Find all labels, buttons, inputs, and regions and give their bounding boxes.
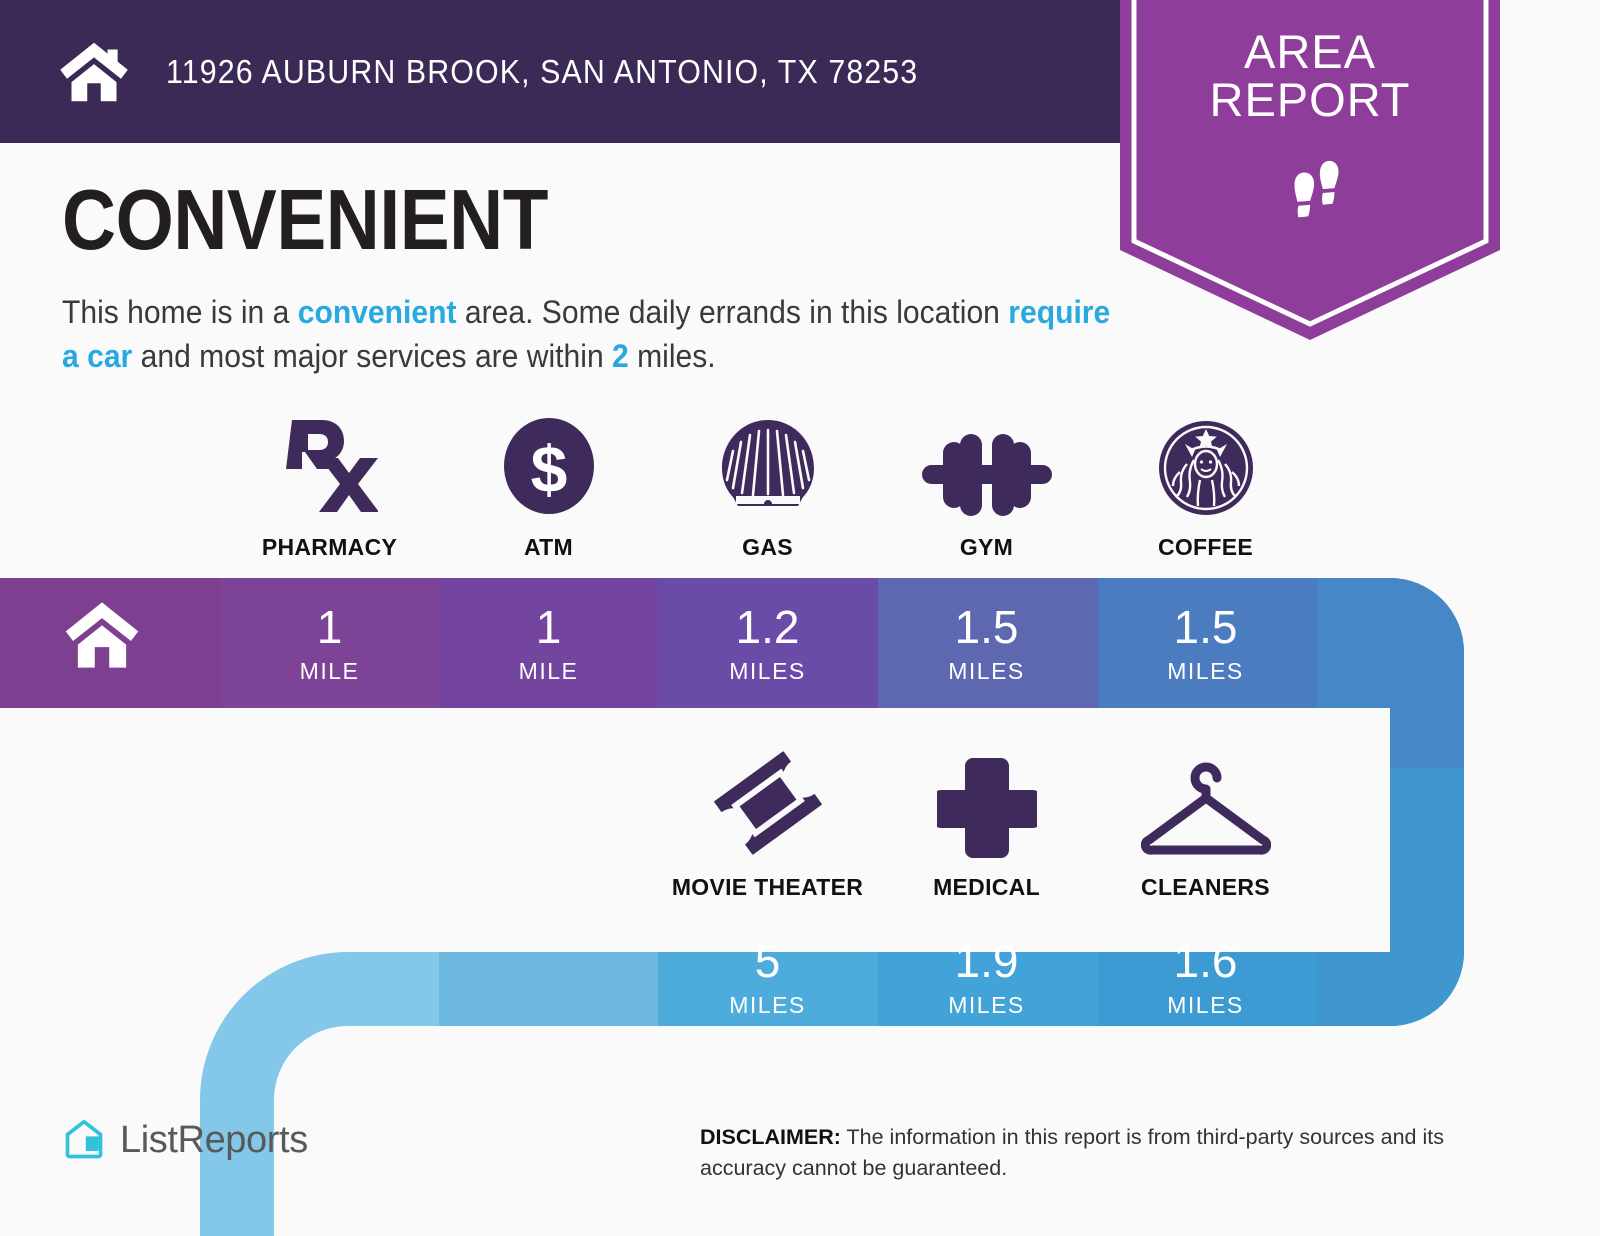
distance-value: 1.6 xyxy=(1096,938,1315,984)
home-marker-icon xyxy=(62,600,142,670)
row1-values: 1 MILE 1 MILE 1.2 MILES 1.5 MILES 1.5 MI… xyxy=(220,604,1315,685)
distance-value: 1 xyxy=(220,604,439,650)
amenity-label: ATM xyxy=(439,534,658,561)
svg-text:$: $ xyxy=(530,432,567,506)
hero-text-3: and most major services are within xyxy=(132,338,612,374)
shell-gas-icon xyxy=(658,418,877,518)
amenity-gas: GAS xyxy=(658,418,877,561)
distance-value: 1.5 xyxy=(877,604,1096,650)
badge-line-2: REPORT xyxy=(1120,76,1500,124)
distance-gym: 1.5 MILES xyxy=(877,604,1096,685)
row2-values: 5 MILES 1.9 MILES 1.6 MILES xyxy=(658,938,1315,1019)
hero-text-4: miles. xyxy=(629,338,716,374)
page-title: CONVENIENT xyxy=(62,178,977,263)
amenity-pharmacy: PHARMACY xyxy=(220,418,439,561)
hero-highlight-3: 2 xyxy=(612,338,629,374)
listreports-logo: ListReports xyxy=(62,1118,308,1162)
distance-value: 1 xyxy=(439,604,658,650)
distance-unit: MILES xyxy=(658,992,877,1019)
hero-text-1: This home is in a xyxy=(62,294,298,330)
hero-section: CONVENIENT This home is in a convenient … xyxy=(62,178,1102,378)
hero-description: This home is in a convenient area. Some … xyxy=(62,291,1115,378)
disclaimer: DISCLAIMER: The information in this repo… xyxy=(700,1122,1510,1184)
house-icon xyxy=(58,36,130,108)
badge-title: AREA REPORT xyxy=(1120,28,1500,125)
property-address: 11926 AUBURN BROOK, SAN ANTONIO, TX 7825… xyxy=(166,53,918,91)
distance-unit: MILES xyxy=(877,992,1096,1019)
distance-unit: MILE xyxy=(220,658,439,685)
distance-value: 5 xyxy=(658,938,877,984)
dumbbell-icon xyxy=(877,418,1096,518)
footprints-icon xyxy=(1275,155,1353,233)
amenity-icon-row-1: PHARMACY $ ATM xyxy=(220,418,1315,561)
distance-coffee: 1.5 MILES xyxy=(1096,604,1315,685)
hero-highlight-1: convenient xyxy=(298,294,457,330)
distance-medical: 1.9 MILES xyxy=(877,938,1096,1019)
distance-pharmacy: 1 MILE xyxy=(220,604,439,685)
amenity-label: GAS xyxy=(658,534,877,561)
area-report-badge: AREA REPORT xyxy=(1120,0,1500,340)
amenity-label: COFFEE xyxy=(1096,534,1315,561)
amenity-coffee: TM COFFEE xyxy=(1096,418,1315,561)
distance-movie-theater: 5 MILES xyxy=(658,938,877,1019)
distance-unit: MILES xyxy=(1096,992,1315,1019)
area-report-page: 11926 AUBURN BROOK, SAN ANTONIO, TX 7825… xyxy=(0,0,1600,1236)
distance-unit: MILES xyxy=(877,658,1096,685)
distance-value: 1.5 xyxy=(1096,604,1315,650)
dollar-circle-icon: $ xyxy=(439,418,658,518)
hero-text-2: area. Some daily errands in this locatio… xyxy=(457,294,1009,330)
svg-text:TM: TM xyxy=(1242,501,1254,510)
listreports-house-icon xyxy=(62,1118,106,1162)
distance-unit: MILES xyxy=(1096,658,1315,685)
header-bar: 11926 AUBURN BROOK, SAN ANTONIO, TX 7825… xyxy=(0,0,1140,143)
amenity-label: PHARMACY xyxy=(220,534,439,561)
distance-gas: 1.2 MILES xyxy=(658,604,877,685)
disclaimer-label: DISCLAIMER: xyxy=(700,1125,841,1149)
starbucks-coffee-icon: TM xyxy=(1096,418,1315,518)
distance-unit: MILE xyxy=(439,658,658,685)
distance-atm: 1 MILE xyxy=(439,604,658,685)
amenity-gym: GYM xyxy=(877,418,1096,561)
amenity-label: GYM xyxy=(877,534,1096,561)
listreports-wordmark: ListReports xyxy=(120,1119,308,1162)
amenity-atm: $ ATM xyxy=(439,418,658,561)
badge-line-1: AREA xyxy=(1120,28,1500,76)
distance-value: 1.2 xyxy=(658,604,877,650)
distance-cleaners: 1.6 MILES xyxy=(1096,938,1315,1019)
distance-value: 1.9 xyxy=(877,938,1096,984)
rx-pharmacy-icon xyxy=(220,418,439,518)
distance-unit: MILES xyxy=(658,658,877,685)
